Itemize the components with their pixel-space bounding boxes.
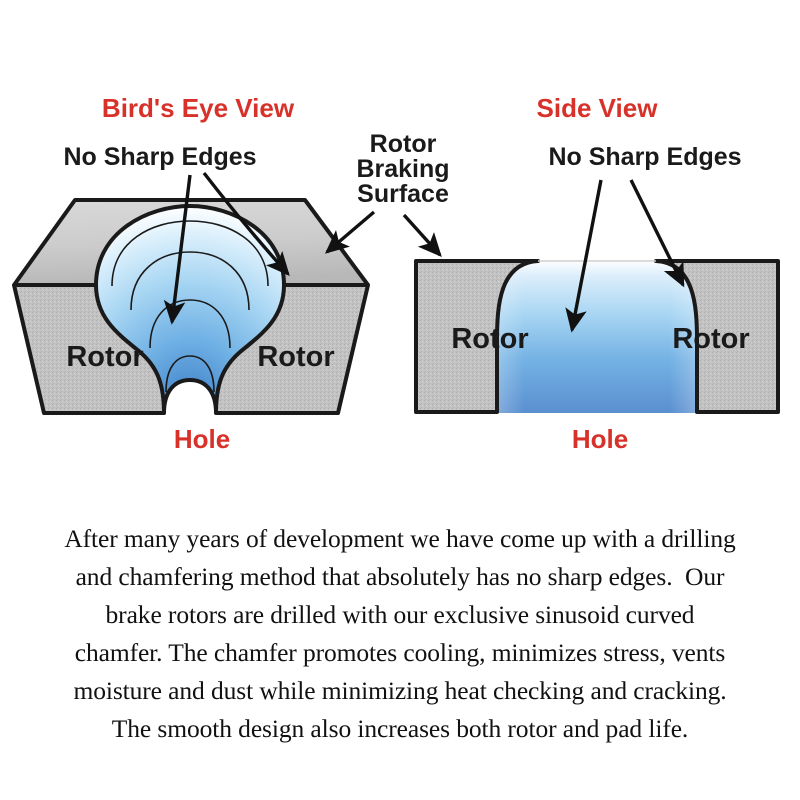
caption-line: moisture and dust while minimizing heat … <box>0 672 800 710</box>
side-rotor-label-left: Rotor <box>451 323 528 355</box>
rotor-braking-surface-label: Rotor Braking Surface <box>356 130 449 208</box>
caption-line: After many years of development we have … <box>0 520 800 558</box>
caption-line: The smooth design also increases both ro… <box>0 710 800 748</box>
arrow-rbs-to-right-figure <box>404 215 440 255</box>
caption-line: and chamfering method that absolutely ha… <box>0 558 800 596</box>
rbs-line-3: Surface <box>357 180 449 208</box>
right-no-sharp-edges-label: No Sharp Edges <box>548 143 741 171</box>
caption-line: brake rotors are drilled with our exclus… <box>0 596 800 634</box>
caption-line: chamfer. The chamfer promotes cooling, m… <box>0 634 800 672</box>
side-rotor-label-right: Rotor <box>672 323 749 355</box>
rbs-line-1: Rotor <box>370 130 437 158</box>
page-root: Bird's Eye View No Sharp Edges Rotor Bra… <box>0 0 800 800</box>
left-no-sharp-edges-label: No Sharp Edges <box>63 143 256 171</box>
arrow-rbs-to-left-figure <box>327 212 374 252</box>
diagram-area: Bird's Eye View No Sharp Edges Rotor Bra… <box>0 0 800 470</box>
caption-paragraph: After many years of development we have … <box>0 520 800 780</box>
rbs-line-2: Braking <box>356 155 449 183</box>
rotor-chamfer-diagram: Bird's Eye View No Sharp Edges Rotor Bra… <box>0 0 800 470</box>
left-figure-birds-eye-view: Bird's Eye View No Sharp Edges Rotor Bra… <box>14 93 450 454</box>
left-view-heading: Bird's Eye View <box>102 93 295 123</box>
right-view-heading: Side View <box>537 93 659 123</box>
right-hole-label: Hole <box>572 424 628 454</box>
right-figure-side-view: Side View No Sharp Edges Rotor Rotor Hol… <box>404 93 778 454</box>
left-rotor-label-right: Rotor <box>257 341 334 373</box>
left-rotor-label-left: Rotor <box>66 341 143 373</box>
left-hole-label: Hole <box>174 424 230 454</box>
